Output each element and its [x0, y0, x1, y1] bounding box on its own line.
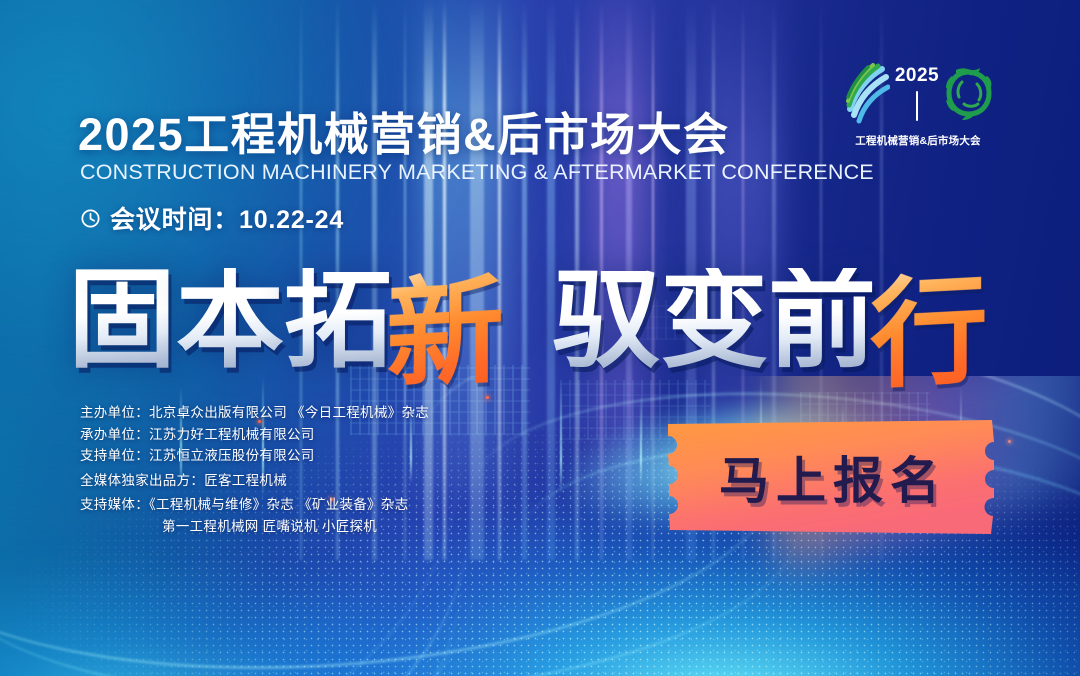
slogan-char: 前: [768, 268, 876, 376]
conference-logo: 2025: [838, 58, 998, 163]
organizer-line: 支持单位：江苏恒立液压股份有限公司: [80, 445, 550, 467]
conference-banner: 2025: [0, 0, 1080, 676]
fan-ribbon-icon: [842, 63, 890, 125]
register-now-button[interactable]: 马上报名: [664, 418, 996, 536]
ticket-shape: [664, 418, 996, 536]
page-subtitle-english: CONSTRUCTION MACHINERY MARKETING & AFTER…: [80, 160, 874, 185]
slogan-char: 本: [176, 268, 284, 376]
organizer-line: 第一工程机械网 匠嘴说机 小匠探机: [80, 516, 550, 538]
logo-year-block: 2025: [895, 62, 939, 126]
slogan-char: 变: [660, 268, 768, 376]
wave-vertical-streak: [640, 394, 642, 486]
logo-marks-row: 2025: [842, 58, 994, 130]
clock-icon: [80, 208, 101, 229]
green-circle-wreath-icon: [944, 66, 994, 122]
organizer-line: 支持媒体：《工程机械与维修》杂志 《矿业装备》杂志: [80, 494, 550, 516]
wave-vertical-streak: [560, 382, 562, 494]
slogan-char: 固: [68, 268, 176, 376]
slogan-char: 拓: [284, 268, 392, 376]
organizer-line: 全媒体独家出品方：匠客工程机械: [80, 470, 550, 492]
slogan-char: 驭: [552, 268, 660, 376]
page-title: 2025工程机械营销&后市场大会: [78, 98, 730, 163]
slogan-accent-char: 新: [386, 233, 504, 410]
slogan-accent-char: 行: [870, 233, 988, 410]
organizer-list: 主办单位：北京卓众出版有限公司 《今日工程机械》杂志 承办单位：江苏力好工程机械…: [80, 402, 550, 537]
slogan: 固 本 拓 新 驭 变 前 行: [68, 258, 1008, 386]
logo-caption: 工程机械营销&后市场大会: [855, 133, 980, 148]
conference-date-row: 会议时间：10.22-24: [80, 200, 344, 236]
logo-divider: [916, 91, 918, 121]
conference-date: 会议时间：10.22-24: [110, 200, 344, 236]
logo-year: 2025: [895, 66, 939, 85]
organizer-line: 承办单位：江苏力好工程机械有限公司: [80, 424, 550, 446]
